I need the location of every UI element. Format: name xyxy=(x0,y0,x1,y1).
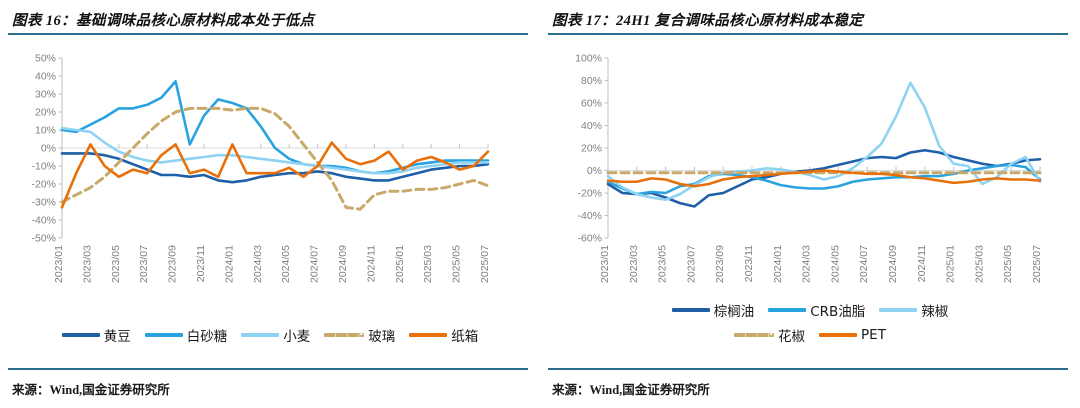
svg-text:2024/03: 2024/03 xyxy=(801,245,813,283)
legend-label: 玻璃 xyxy=(368,325,395,345)
figure-16-title-rule xyxy=(8,33,528,35)
legend-swatch-icon xyxy=(879,308,917,311)
legend-label: 纸箱 xyxy=(451,325,478,345)
svg-text:2023/05: 2023/05 xyxy=(110,245,122,283)
legend-row: 花椒PET xyxy=(540,325,1080,345)
svg-text:2024/07: 2024/07 xyxy=(309,245,321,283)
svg-text:-30%: -30% xyxy=(31,197,56,209)
svg-text:2023/07: 2023/07 xyxy=(138,245,150,283)
legend-swatch-icon xyxy=(145,333,183,336)
svg-text:2023/01: 2023/01 xyxy=(53,245,65,283)
legend-label: 黄豆 xyxy=(104,325,131,345)
svg-text:2023/09: 2023/09 xyxy=(714,245,726,283)
legend-swatch-icon xyxy=(62,333,100,336)
svg-text:-10%: -10% xyxy=(31,161,56,173)
svg-text:2023/03: 2023/03 xyxy=(628,245,640,283)
legend-swatch-icon xyxy=(324,333,364,337)
figure-16-plot: 50%40%30%20%10%0%-10%-20%-30%-40%-50%202… xyxy=(0,40,540,330)
legend-item-黄豆[interactable]: 黄豆 xyxy=(62,325,131,345)
svg-text:2023/07: 2023/07 xyxy=(685,245,697,283)
svg-text:2025/03: 2025/03 xyxy=(973,245,985,283)
svg-text:2023/01: 2023/01 xyxy=(599,245,611,283)
figure-17-legend: 棕榈油CRB油脂辣椒 花椒PET xyxy=(540,300,1080,345)
legend-item-PET[interactable]: PET xyxy=(819,327,886,343)
legend-item-白砂糖[interactable]: 白砂糖 xyxy=(145,325,228,345)
legend-label: CRB油脂 xyxy=(810,300,865,320)
svg-text:20%: 20% xyxy=(581,143,602,155)
legend-swatch-icon xyxy=(241,333,279,336)
svg-text:2024/11: 2024/11 xyxy=(916,245,928,282)
figure-17-svg: 100%80%60%40%20%0%-20%-40%-60%2023/01202… xyxy=(540,40,1080,330)
svg-text:2023/05: 2023/05 xyxy=(657,245,669,283)
svg-text:2023/09: 2023/09 xyxy=(167,245,179,283)
svg-text:-40%: -40% xyxy=(577,210,602,222)
svg-text:2024/01: 2024/01 xyxy=(772,245,784,283)
legend-label: 棕榈油 xyxy=(714,300,755,320)
figure-16-legend: 黄豆白砂糖小麦玻璃纸箱 xyxy=(0,325,540,345)
svg-text:-50%: -50% xyxy=(31,233,56,245)
legend-label: 小麦 xyxy=(283,325,310,345)
svg-text:60%: 60% xyxy=(581,98,602,110)
svg-text:2023/11: 2023/11 xyxy=(195,245,207,282)
figure-16-svg: 50%40%30%20%10%0%-10%-20%-30%-40%-50%202… xyxy=(0,40,540,330)
svg-text:2025/07: 2025/07 xyxy=(1031,245,1043,283)
figure-pair-page: 图表 16：基础调味品核心原材料成本处于低点 50%40%30%20%10%0%… xyxy=(0,0,1080,408)
svg-text:2025/01: 2025/01 xyxy=(394,245,406,283)
legend-item-纸箱[interactable]: 纸箱 xyxy=(409,325,478,345)
legend-row: 棕榈油CRB油脂辣椒 xyxy=(540,300,1080,320)
svg-text:2025/05: 2025/05 xyxy=(1002,245,1014,283)
svg-text:2024/01: 2024/01 xyxy=(223,245,235,283)
legend-label: 花椒 xyxy=(778,325,805,345)
svg-text:2024/05: 2024/05 xyxy=(829,245,841,283)
legend-item-CRB油脂[interactable]: CRB油脂 xyxy=(768,300,865,320)
figure-16-source: 来源：Wind,国金证券研究所 xyxy=(12,379,170,398)
svg-text:0%: 0% xyxy=(41,143,56,155)
svg-text:30%: 30% xyxy=(35,89,56,101)
svg-text:-20%: -20% xyxy=(577,188,602,200)
svg-text:2025/07: 2025/07 xyxy=(479,245,491,283)
svg-text:50%: 50% xyxy=(35,53,56,65)
svg-text:20%: 20% xyxy=(35,107,56,119)
svg-text:2024/11: 2024/11 xyxy=(365,245,377,282)
svg-text:2024/07: 2024/07 xyxy=(858,245,870,283)
svg-text:-60%: -60% xyxy=(577,233,602,245)
legend-swatch-icon xyxy=(409,333,447,336)
svg-text:2023/11: 2023/11 xyxy=(743,245,755,282)
legend-label: PET xyxy=(861,327,886,343)
svg-text:40%: 40% xyxy=(35,71,56,83)
svg-text:2024/05: 2024/05 xyxy=(280,245,292,283)
figure-16-title: 图表 16：基础调味品核心原材料成本处于低点 xyxy=(12,9,314,30)
legend-swatch-icon xyxy=(819,333,857,336)
svg-text:40%: 40% xyxy=(581,120,602,132)
legend-item-花椒[interactable]: 花椒 xyxy=(734,325,805,345)
legend-label: 白砂糖 xyxy=(187,325,228,345)
svg-text:2024/09: 2024/09 xyxy=(887,245,899,283)
legend-item-小麦[interactable]: 小麦 xyxy=(241,325,310,345)
panel-figure-16: 图表 16：基础调味品核心原材料成本处于低点 50%40%30%20%10%0%… xyxy=(0,0,540,408)
svg-text:100%: 100% xyxy=(575,53,602,65)
svg-text:2025/03: 2025/03 xyxy=(422,245,434,283)
figure-16-footer-rule xyxy=(8,368,528,370)
svg-text:0%: 0% xyxy=(587,165,602,177)
figure-17-title-rule xyxy=(548,33,1068,35)
panel-figure-17: 图表 17：24H1 复合调味品核心原材料成本稳定 100%80%60%40%2… xyxy=(540,0,1080,408)
legend-label: 辣椒 xyxy=(921,300,948,320)
svg-text:2024/03: 2024/03 xyxy=(252,245,264,283)
legend-swatch-icon xyxy=(672,308,710,311)
svg-text:10%: 10% xyxy=(35,125,56,137)
svg-text:80%: 80% xyxy=(581,75,602,87)
svg-text:-20%: -20% xyxy=(31,179,56,191)
svg-text:-40%: -40% xyxy=(31,215,56,227)
legend-item-棕榈油[interactable]: 棕榈油 xyxy=(672,300,755,320)
series-line-小麦 xyxy=(62,128,488,173)
legend-row: 黄豆白砂糖小麦玻璃纸箱 xyxy=(0,325,540,345)
legend-swatch-icon xyxy=(768,308,806,311)
svg-text:2025/01: 2025/01 xyxy=(945,245,957,283)
legend-item-辣椒[interactable]: 辣椒 xyxy=(879,300,948,320)
legend-item-玻璃[interactable]: 玻璃 xyxy=(324,325,395,345)
svg-text:2024/09: 2024/09 xyxy=(337,245,349,283)
svg-text:2023/03: 2023/03 xyxy=(81,245,93,283)
svg-text:2025/05: 2025/05 xyxy=(451,245,463,283)
figure-17-title: 图表 17：24H1 复合调味品核心原材料成本稳定 xyxy=(552,9,863,30)
figure-17-footer-rule xyxy=(548,368,1068,370)
figure-17-plot: 100%80%60%40%20%0%-20%-40%-60%2023/01202… xyxy=(540,40,1080,330)
legend-swatch-icon xyxy=(734,333,774,337)
figure-17-source: 来源：Wind,国金证券研究所 xyxy=(552,379,710,398)
